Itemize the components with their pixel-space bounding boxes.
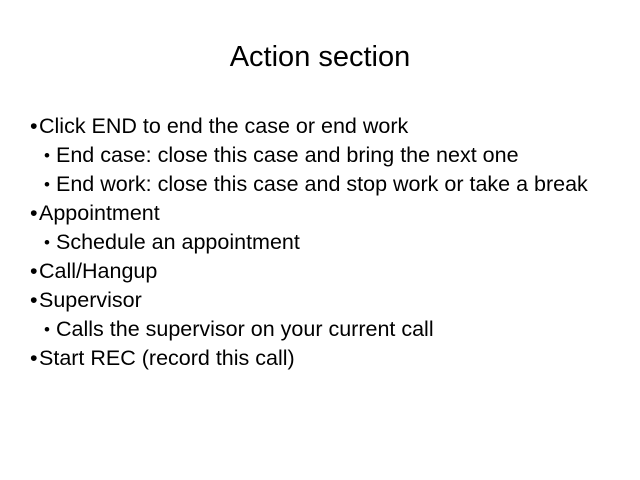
list-item: •Start REC (record this call)	[28, 344, 616, 373]
bullet-dot-icon: •	[30, 112, 39, 141]
list-item: •Schedule an appointment	[28, 228, 616, 257]
list-item: •Click END to end the case or end work	[28, 112, 616, 141]
bullet-dot-icon: •	[30, 257, 39, 286]
list-item: •Supervisor	[28, 286, 616, 315]
slide: Action section •Click END to end the cas…	[0, 0, 640, 480]
bullet-dot-icon: •	[30, 344, 39, 373]
slide-content-body: •Click END to end the case or end work•E…	[28, 112, 616, 373]
list-item: •Call/Hangup	[28, 257, 616, 286]
list-item-label: Calls the supervisor on your current cal…	[56, 315, 616, 344]
bullet-dot-icon: •	[30, 286, 39, 315]
list-item: •Calls the supervisor on your current ca…	[28, 315, 616, 344]
list-item-label: Start REC (record this call)	[39, 344, 616, 373]
bullet-dot-icon: •	[44, 315, 54, 344]
list-item-label: Appointment	[39, 199, 616, 228]
list-item: •End case: close this case and bring the…	[28, 141, 616, 170]
list-item-label: Schedule an appointment	[56, 228, 616, 257]
bullet-dot-icon: •	[44, 141, 54, 170]
list-item-label: End work: close this case and stop work …	[56, 170, 616, 199]
bullet-dot-icon: •	[30, 199, 39, 228]
list-item-label: Click END to end the case or end work	[39, 112, 616, 141]
list-item: •End work: close this case and stop work…	[28, 170, 616, 199]
list-item-label: Call/Hangup	[39, 257, 616, 286]
list-item-label: Supervisor	[39, 286, 616, 315]
bullet-list: •Click END to end the case or end work•E…	[28, 112, 616, 373]
list-item-label: End case: close this case and bring the …	[56, 141, 616, 170]
page-title: Action section	[0, 40, 640, 74]
bullet-dot-icon: •	[44, 228, 54, 257]
bullet-dot-icon: •	[44, 170, 54, 199]
list-item: •Appointment	[28, 199, 616, 228]
